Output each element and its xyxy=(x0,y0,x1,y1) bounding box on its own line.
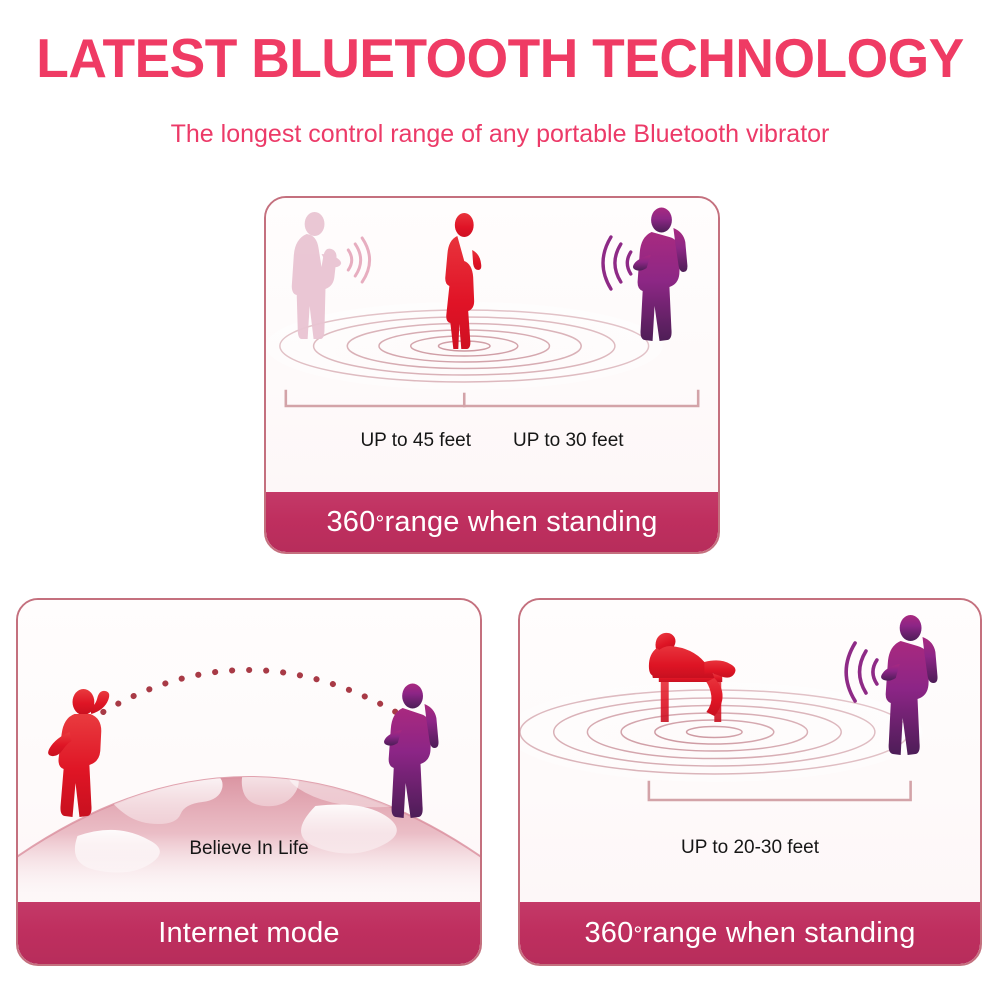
promo-page: LATEST BLUETOOTH TECHNOLOGY The longest … xyxy=(0,0,1000,1000)
signal-waves-left xyxy=(348,238,369,282)
caption-up-to-45-feet: UP to 45 feet xyxy=(360,430,471,452)
range-bracket xyxy=(286,391,698,406)
figure-red-woman-left xyxy=(48,689,109,817)
signal-waves-right xyxy=(603,237,631,289)
card-range-standing-footer: 360° range when standing xyxy=(266,492,718,552)
internet-mode-caption: Believe In Life xyxy=(18,838,480,860)
figure-purple-man-right xyxy=(881,615,937,755)
footer-value-360: 360 xyxy=(326,506,375,539)
caption-up-to-20-30-feet: UP to 20-30 feet xyxy=(681,837,819,858)
card-range-seated: UP to 20-30 feet 360° range when standin… xyxy=(518,598,982,966)
footer-value-360: 360 xyxy=(584,917,633,950)
degree-icon: ° xyxy=(375,511,384,537)
range-seated-caption: UP to 20-30 feet xyxy=(520,837,980,859)
card-internet-mode-footer: Internet mode xyxy=(18,902,480,964)
card-range-seated-body: UP to 20-30 feet xyxy=(520,600,980,902)
card-range-seated-footer: 360° range when standing xyxy=(520,902,980,964)
caption-believe-in-life: Believe In Life xyxy=(189,838,308,859)
page-title: LATEST BLUETOOTH TECHNOLOGY xyxy=(15,28,985,88)
card-internet-mode: Believe In Life Internet mode xyxy=(16,598,482,966)
figure-purple-man-right xyxy=(633,208,687,342)
card-internet-mode-body: Believe In Life xyxy=(18,600,480,902)
footer-text-internet-mode: Internet mode xyxy=(158,917,340,950)
page-subtitle: The longest control range of any portabl… xyxy=(0,118,1000,150)
figure-purple-man-right xyxy=(384,684,438,819)
dotted-connection-arc xyxy=(103,670,402,716)
footer-text-range-when-standing: range when standing xyxy=(642,917,915,950)
range-bracket xyxy=(649,782,911,800)
footer-text-range-when-standing: range when standing xyxy=(384,506,657,539)
signal-waves-right xyxy=(846,643,877,701)
range-standing-captions: UP to 45 feet UP to 30 feet xyxy=(266,430,718,452)
card-range-standing-body: UP to 45 feet UP to 30 feet xyxy=(266,198,718,492)
caption-up-to-30-feet: UP to 30 feet xyxy=(513,430,624,452)
degree-icon: ° xyxy=(633,922,642,948)
card-range-standing: UP to 45 feet UP to 30 feet 360° range w… xyxy=(264,196,720,554)
